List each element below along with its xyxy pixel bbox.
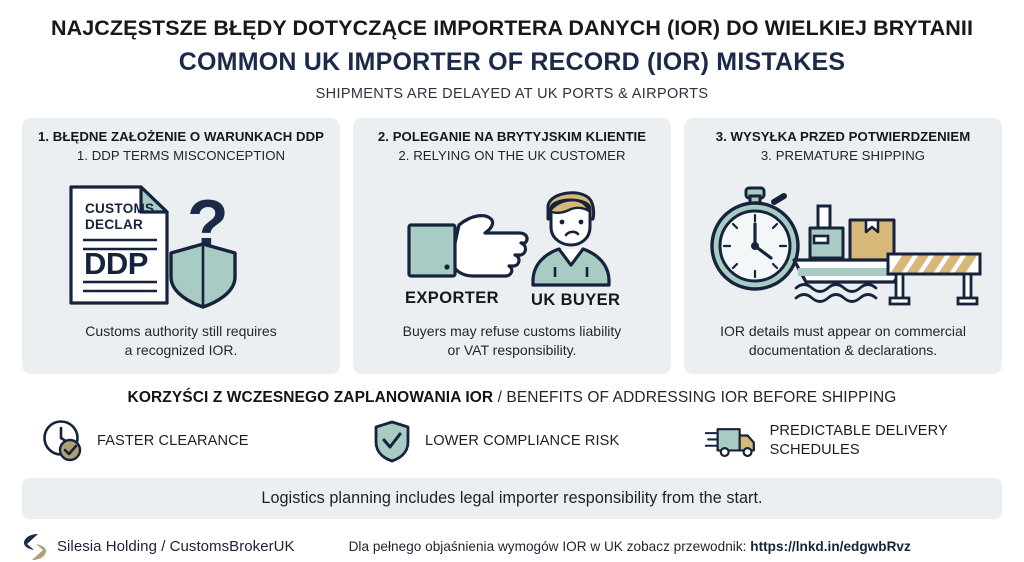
page-title-polish: NAJCZĘSTSZE BŁĘDY DOTYCZĄCE IMPORTERA DA… [0, 16, 1024, 41]
footer-note: Dla pełnego objaśnienia wymogów IOR w UK… [349, 539, 911, 554]
benefit-lower-compliance-risk: LOWER COMPLIANCE RISK [370, 418, 705, 464]
card-title-polish: 2. POLEGANIE NA BRYTYJSKIM KLIENTIE [363, 129, 661, 146]
hand-label: EXPORTER [405, 289, 499, 307]
header: NAJCZĘSTSZE BŁĘDY DOTYCZĄCE IMPORTERA DA… [0, 0, 1024, 102]
card-body-line2: a recognized IOR. [32, 341, 330, 360]
stopwatch-ship-barrier-icon [698, 184, 988, 306]
card-header: 1. BŁĘDNE ZAŁOŻENIE O WARUNKACH DDP 1. D… [32, 129, 330, 165]
doc-label-line2: DECLAR [85, 217, 143, 232]
benefit-predictable-delivery-schedules: PREDICTABLE DELIVERY SCHEDULES [705, 418, 984, 464]
customs-declaration-document-icon: CUSTOMS DECLAR DDP ? [63, 181, 299, 309]
doc-big-text: DDP [84, 246, 148, 281]
exporter-pointing-at-uk-buyer-icon: EXPORTER [387, 181, 637, 309]
card-body-line1: Customs authority still requires [32, 322, 330, 341]
card-illustration: EXPORTER [363, 170, 661, 320]
shield-check-icon [370, 418, 414, 464]
card-body-text: IOR details must appear on commercial do… [694, 322, 992, 361]
card-ddp-terms-misconception: 1. BŁĘDNE ZAŁOŻENIE O WARUNKACH DDP 1. D… [22, 118, 340, 374]
card-relying-on-uk-customer: 2. POLEGANIE NA BRYTYJSKIM KLIENTIE 2. R… [353, 118, 671, 374]
card-body-line2: or VAT responsibility. [363, 341, 661, 360]
card-title-english: 3. PREMATURE SHIPPING [694, 147, 992, 164]
delivery-truck-icon [705, 418, 759, 464]
card-title-polish: 1. BŁĘDNE ZAŁOŻENIE O WARUNKACH DDP [32, 129, 330, 146]
doc-label-line1: CUSTOMS [85, 201, 154, 216]
card-premature-shipping: 3. WYSYŁKA PRZED POTWIERDZENIEM 3. PREMA… [684, 118, 1002, 374]
card-body-line1: Buyers may refuse customs liability [363, 322, 661, 341]
card-body-text: Customs authority still requires a recog… [32, 322, 330, 361]
pointing-hand-icon [409, 216, 527, 276]
benefits-row: FASTER CLEARANCE LOWER COMPLIANCE RISK [0, 418, 1024, 464]
guide-link[interactable]: https://lnkd.in/edgwbRvz [750, 539, 911, 554]
brand-name: Silesia Holding / CustomsBrokerUK [57, 538, 295, 555]
benefit-label: LOWER COMPLIANCE RISK [425, 432, 619, 450]
silesia-holding-logo-icon [22, 532, 48, 562]
card-header: 2. POLEGANIE NA BRYTYJSKIM KLIENTIE 2. R… [363, 129, 661, 165]
stopwatch-icon [712, 188, 798, 289]
brand: Silesia Holding / CustomsBrokerUK [22, 532, 295, 562]
card-title-english: 1. DDP TERMS MISCONCEPTION [32, 147, 330, 164]
card-body-line1: IOR details must appear on commercial [694, 322, 992, 341]
card-illustration: CUSTOMS DECLAR DDP ? [32, 170, 330, 320]
road-barrier-icon [888, 252, 980, 304]
summary-banner: Logistics planning includes legal import… [22, 478, 1002, 519]
card-header: 3. WYSYŁKA PRZED POTWIERDZENIEM 3. PREMA… [694, 129, 992, 165]
card-title-english: 2. RELYING ON THE UK CUSTOMER [363, 147, 661, 164]
clock-check-icon [40, 418, 86, 464]
card-illustration [694, 170, 992, 320]
footer-note-text: Dla pełnego objaśnienia wymogów IOR w UK… [349, 539, 751, 554]
card-body-line2: documentation & declarations. [694, 341, 992, 360]
benefit-label: FASTER CLEARANCE [97, 432, 249, 450]
uk-buyer-person-icon [533, 193, 609, 285]
benefits-heading: KORZYŚCI Z WCZESNEGO ZAPLANOWANIA IOR / … [0, 389, 1024, 407]
benefit-label: PREDICTABLE DELIVERY SCHEDULES [770, 422, 984, 458]
page-title-english: COMMON UK IMPORTER OF RECORD (IOR) MISTA… [0, 47, 1024, 77]
card-body-text: Buyers may refuse customs liability or V… [363, 322, 661, 361]
infographic-page: NAJCZĘSTSZE BŁĘDY DOTYCZĄCE IMPORTERA DA… [0, 0, 1024, 559]
card-title-polish: 3. WYSYŁKA PRZED POTWIERDZENIEM [694, 129, 992, 146]
mistake-cards: 1. BŁĘDNE ZAŁOŻENIE O WARUNKACH DDP 1. D… [0, 118, 1024, 374]
benefits-heading-english: / BENEFITS OF ADDRESSING IOR BEFORE SHIP… [493, 389, 896, 406]
benefit-faster-clearance: FASTER CLEARANCE [40, 418, 370, 464]
person-label: UK BUYER [531, 291, 620, 309]
footer: Silesia Holding / CustomsBrokerUK Dla pe… [0, 524, 1024, 562]
benefits-heading-polish: KORZYŚCI Z WCZESNEGO ZAPLANOWANIA IOR [128, 389, 494, 406]
page-subtitle: SHIPMENTS ARE DELAYED AT UK PORTS & AIRP… [0, 86, 1024, 102]
